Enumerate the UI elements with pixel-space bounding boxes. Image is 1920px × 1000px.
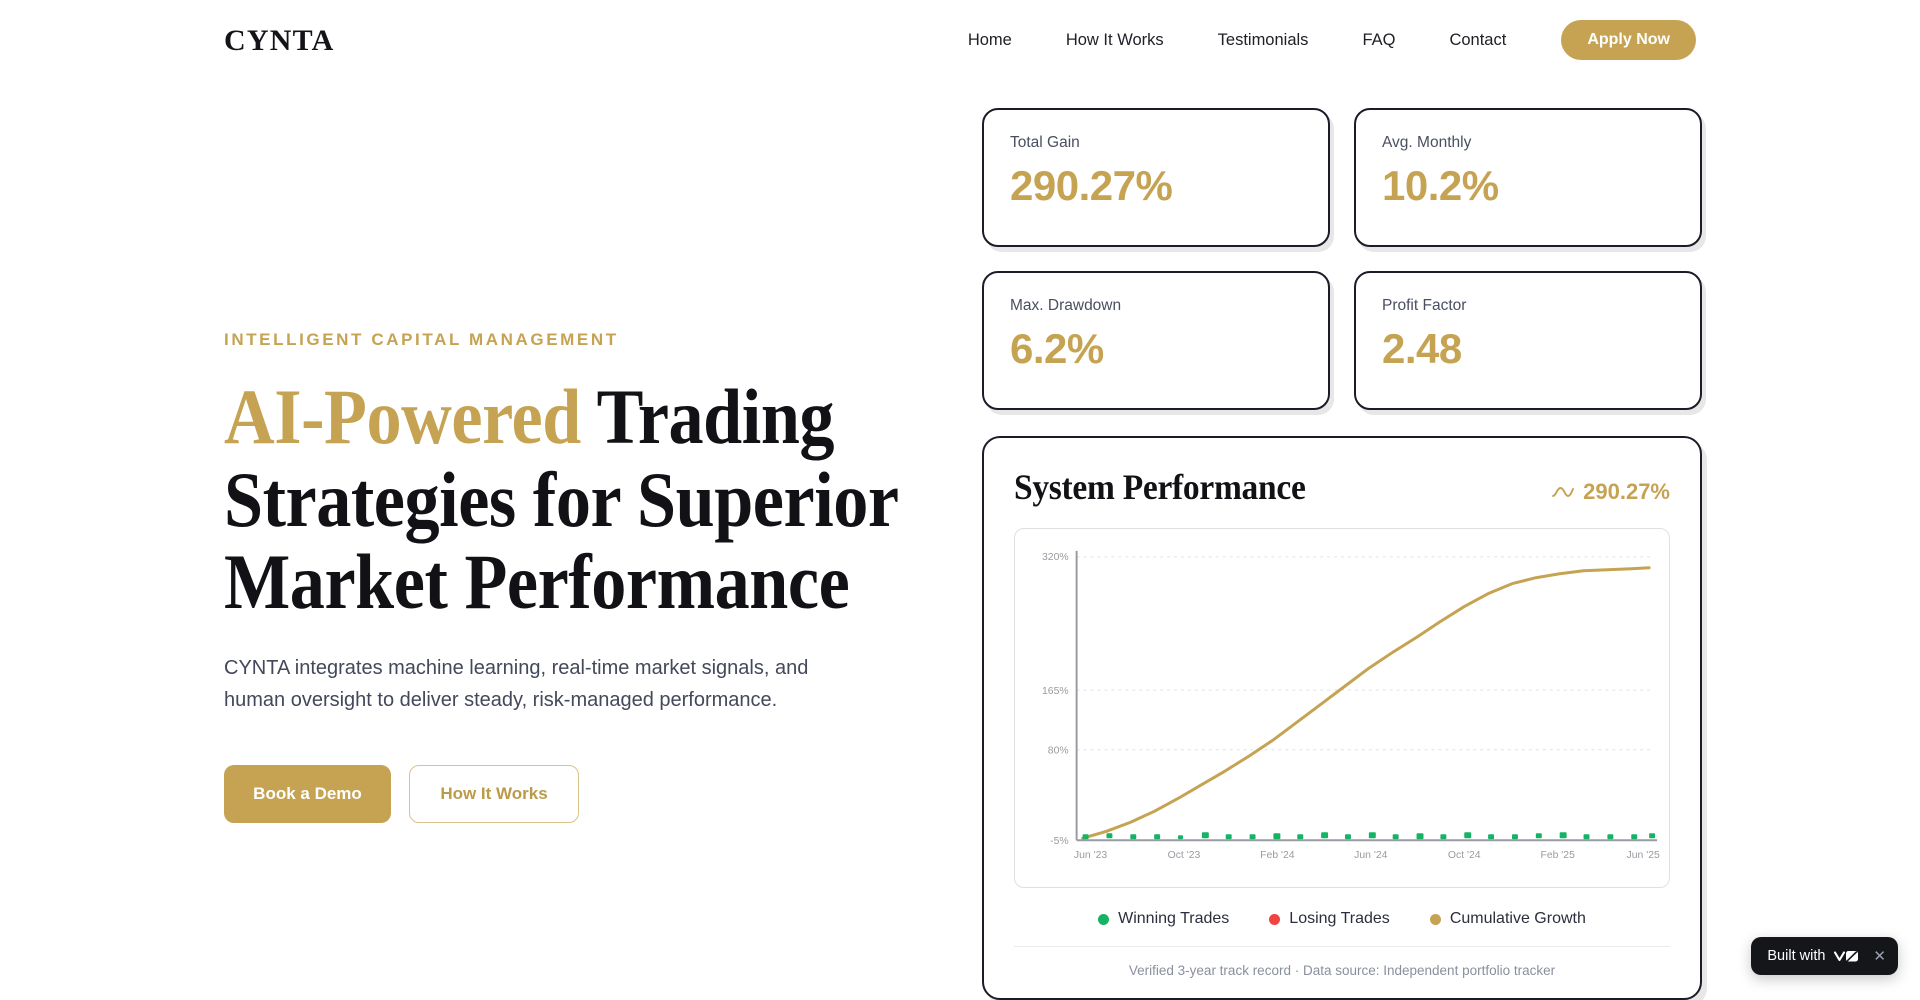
hero-section: INTELLIGENT CAPITAL MANAGEMENT AI-Powere…	[224, 330, 924, 823]
chart-title: System Performance	[1014, 466, 1306, 508]
legend-item-winning-trades: Winning Trades	[1098, 910, 1229, 928]
nav-link-testimonials[interactable]: Testimonials	[1191, 20, 1336, 60]
y-tick-label: 165%	[1042, 686, 1069, 697]
x-tick-label: Jun '23	[1074, 850, 1107, 861]
stat-label: Total Gain	[1010, 134, 1302, 152]
performance-line-chart: 320% 165% 80% -5%	[1015, 529, 1669, 887]
chart-footnote: Verified 3-year track record · Data sour…	[1014, 963, 1670, 978]
nav-link-faq[interactable]: FAQ	[1335, 20, 1422, 60]
legend-dot-gold	[1430, 914, 1441, 925]
chart-delta-value: 290.27%	[1583, 479, 1670, 505]
built-with-badge[interactable]: Built with ✕	[1751, 937, 1898, 975]
performance-panel: Total Gain 290.27% Avg. Monthly 10.2% Ma…	[982, 108, 1702, 1000]
stat-value: 6.2%	[1010, 327, 1302, 371]
chart-gridlines	[1077, 557, 1651, 750]
trending-line-icon	[1552, 485, 1574, 499]
stat-label: Avg. Monthly	[1382, 134, 1674, 152]
how-it-works-button[interactable]: How It Works	[409, 765, 579, 823]
stat-value: 2.48	[1382, 327, 1674, 371]
legend-item-losing-trades: Losing Trades	[1269, 910, 1390, 928]
system-performance-card: System Performance 290.27%	[982, 436, 1702, 1000]
x-tick-label: Jun '25	[1627, 850, 1660, 861]
legend-item-cumulative-growth: Cumulative Growth	[1430, 910, 1586, 928]
close-icon[interactable]: ✕	[1873, 949, 1886, 964]
chart-delta: 290.27%	[1552, 479, 1670, 505]
chart-y-ticks: 320% 165% 80% -5%	[1042, 552, 1069, 847]
legend-label: Cumulative Growth	[1450, 910, 1586, 928]
nav-link-how-it-works[interactable]: How It Works	[1039, 20, 1191, 60]
apply-now-button[interactable]: Apply Now	[1561, 20, 1696, 60]
x-tick-label: Feb '24	[1260, 850, 1295, 861]
nav-link-contact[interactable]: Contact	[1422, 20, 1533, 60]
cumulative-growth-line	[1083, 568, 1650, 838]
y-tick-label: 320%	[1042, 552, 1069, 563]
y-tick-label: -5%	[1050, 836, 1069, 847]
x-tick-label: Jun '24	[1354, 850, 1387, 861]
hero-cta-row: Book a Demo How It Works	[224, 765, 924, 823]
headline-accent: AI-Powered	[224, 373, 581, 460]
stat-value: 290.27%	[1010, 164, 1302, 208]
x-tick-label: Oct '24	[1448, 850, 1481, 861]
page-title: AI-Powered Trading Strategies for Superi…	[224, 376, 1034, 624]
winning-trade-markers	[1083, 832, 1655, 839]
chart-legend: Winning Trades Losing Trades Cumulative …	[1014, 910, 1670, 947]
legend-dot-red	[1269, 914, 1280, 925]
stat-value: 10.2%	[1382, 164, 1674, 208]
stat-card-max-drawdown: Max. Drawdown 6.2%	[982, 271, 1330, 410]
brand-logo[interactable]: CYNTA	[224, 24, 334, 58]
chart-x-ticks: Jun '23 Oct '23 Feb '24 Jun '24 Oct '24 …	[1074, 850, 1660, 861]
stat-label: Max. Drawdown	[1010, 297, 1302, 315]
stat-label: Profit Factor	[1382, 297, 1674, 315]
site-header: CYNTA Home How It Works Testimonials FAQ…	[0, 0, 1920, 82]
v0-logo-icon	[1834, 949, 1860, 963]
chart-header: System Performance 290.27%	[1014, 466, 1670, 508]
x-tick-label: Feb '25	[1540, 850, 1575, 861]
hero-eyebrow: INTELLIGENT CAPITAL MANAGEMENT	[224, 330, 924, 350]
stat-card-profit-factor: Profit Factor 2.48	[1354, 271, 1702, 410]
stat-card-avg-monthly: Avg. Monthly 10.2%	[1354, 108, 1702, 247]
y-tick-label: 80%	[1048, 746, 1069, 757]
legend-label: Losing Trades	[1289, 910, 1390, 928]
chart-plot-area[interactable]: 320% 165% 80% -5%	[1014, 528, 1670, 888]
built-with-label: Built with	[1767, 948, 1825, 964]
hero-subhead: CYNTA integrates machine learning, real-…	[224, 652, 864, 717]
legend-dot-green	[1098, 914, 1109, 925]
nav-link-home[interactable]: Home	[941, 20, 1039, 60]
book-a-demo-button[interactable]: Book a Demo	[224, 765, 391, 823]
x-tick-label: Oct '23	[1168, 850, 1201, 861]
main-navigation: Home How It Works Testimonials FAQ Conta…	[941, 20, 1696, 60]
stat-card-total-gain: Total Gain 290.27%	[982, 108, 1330, 247]
legend-label: Winning Trades	[1118, 910, 1229, 928]
stat-card-grid: Total Gain 290.27% Avg. Monthly 10.2% Ma…	[982, 108, 1702, 410]
